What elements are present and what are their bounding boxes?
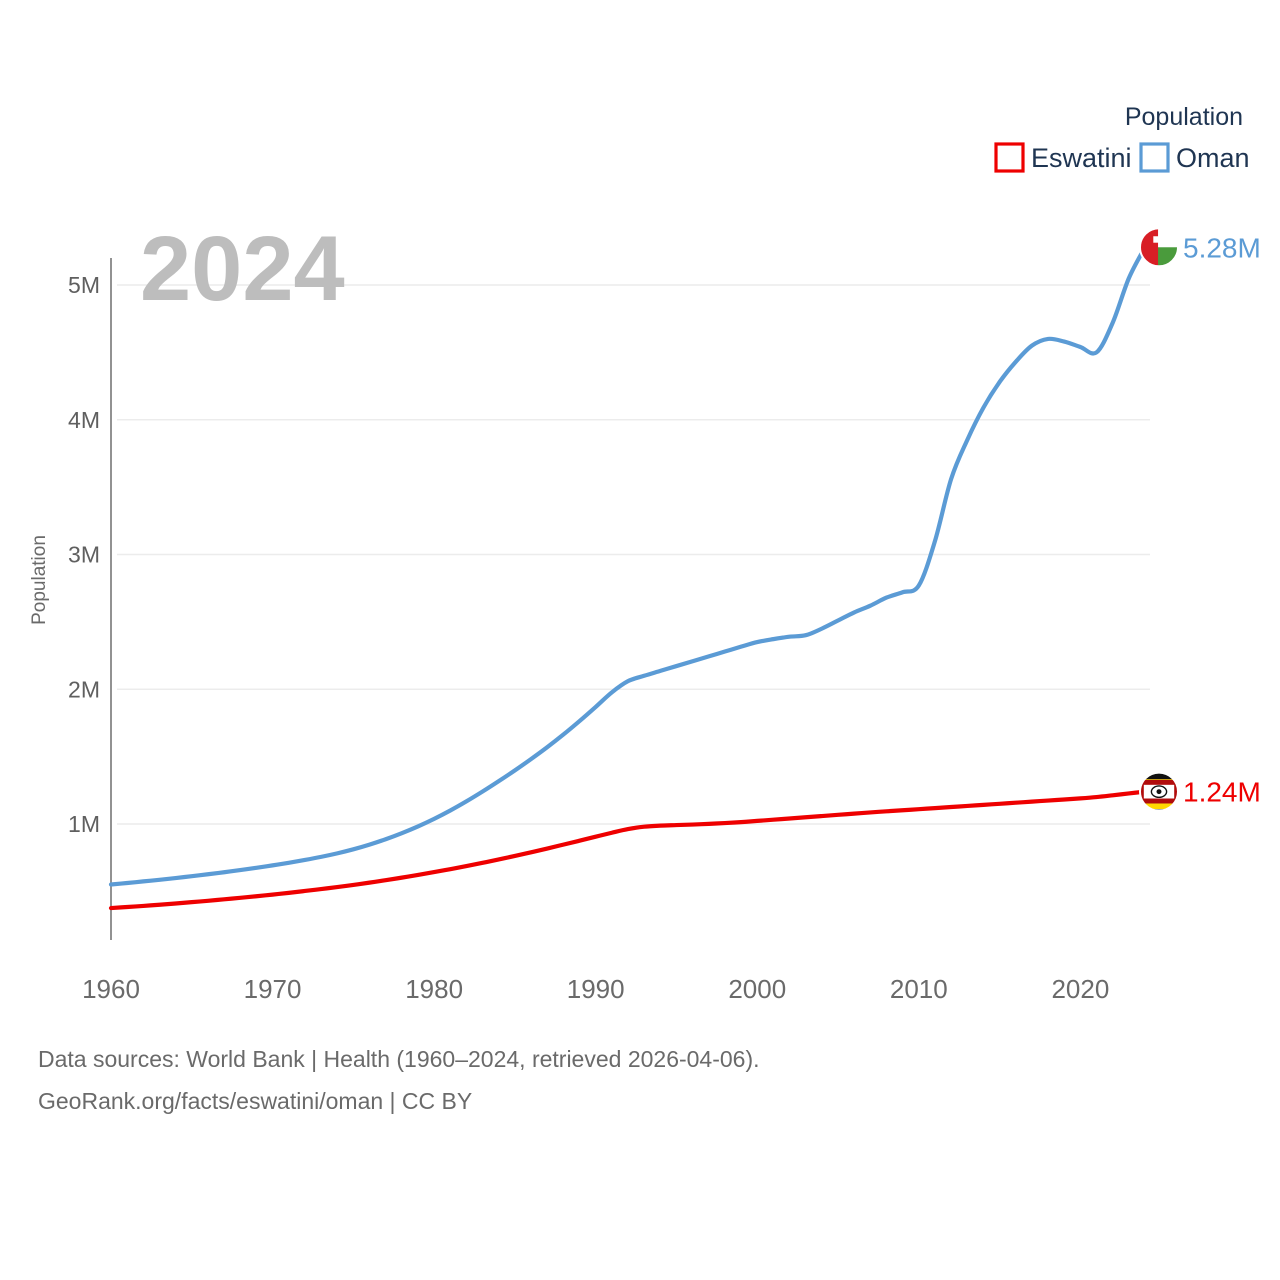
x-tick-label: 2010	[890, 974, 948, 1004]
legend-item-eswatini[interactable]: Eswatini	[996, 143, 1132, 173]
y-tick-label: 3M	[68, 542, 100, 568]
eswatini-end-marker: 1.24M	[1140, 773, 1261, 811]
gridlines	[117, 285, 1150, 824]
y-tick-label: 5M	[68, 272, 100, 298]
x-tick-label: 1960	[82, 974, 140, 1004]
legend-title: Population	[1125, 103, 1243, 131]
x-axis-ticks: 1960197019801990200020102020	[82, 974, 1109, 1004]
eswatini-end-value: 1.24M	[1183, 777, 1261, 808]
legend-item-oman[interactable]: Oman	[1141, 143, 1250, 173]
series-line-oman	[111, 247, 1145, 884]
legend-label-eswatini: Eswatini	[1031, 143, 1132, 173]
series-line-eswatini	[111, 792, 1145, 908]
y-axis-title: Population	[29, 535, 50, 625]
population-chart: Population Eswatini Oman 1M2M3M4M5M 2024…	[0, 0, 1280, 1280]
x-tick-label: 2020	[1051, 974, 1109, 1004]
oman-end-marker: 5.28M	[1140, 228, 1261, 266]
x-tick-label: 1970	[244, 974, 302, 1004]
y-axis-ticks: 1M2M3M4M5M	[68, 272, 100, 837]
x-tick-label: 2000	[728, 974, 786, 1004]
series-layer	[111, 247, 1145, 908]
oman-end-value: 5.28M	[1183, 232, 1261, 263]
y-tick-label: 1M	[68, 811, 100, 837]
legend-label-oman: Oman	[1176, 143, 1250, 173]
footer-line-2: GeoRank.org/facts/eswatini/oman | CC BY	[38, 1088, 472, 1114]
year-watermark: 2024	[140, 218, 345, 320]
x-tick-label: 1990	[567, 974, 625, 1004]
legend: Population Eswatini Oman	[996, 103, 1250, 173]
legend-swatch-eswatini	[996, 144, 1023, 171]
chart-canvas: Population Eswatini Oman 1M2M3M4M5M 2024…	[0, 0, 1280, 1280]
footer-line-1: Data sources: World Bank | Health (1960–…	[38, 1046, 760, 1072]
eswatini-flag-icon	[1140, 773, 1178, 811]
y-tick-label: 2M	[68, 676, 100, 702]
legend-swatch-oman	[1141, 144, 1168, 171]
x-tick-label: 1980	[405, 974, 463, 1004]
oman-flag-icon	[1140, 228, 1178, 266]
y-tick-label: 4M	[68, 407, 100, 433]
